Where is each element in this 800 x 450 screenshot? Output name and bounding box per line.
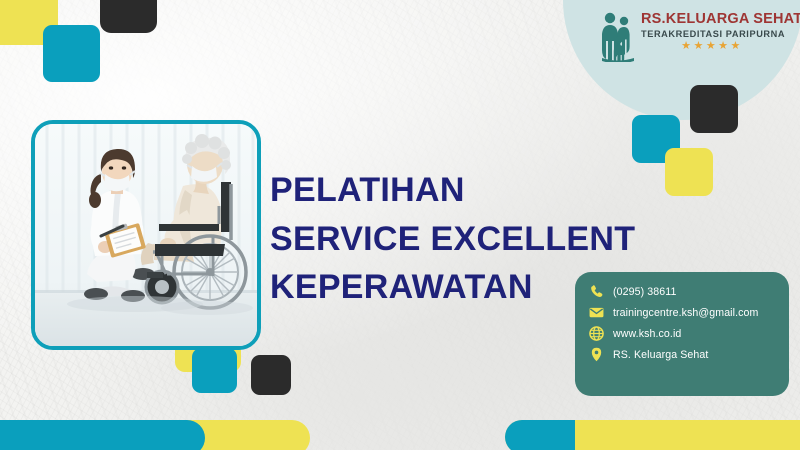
contact-phone-text: (0295) 38611	[613, 286, 676, 298]
decorative-bar-cyan-bottom-right	[505, 420, 575, 450]
envelope-icon	[589, 305, 604, 320]
globe-icon	[589, 326, 604, 341]
phone-icon	[589, 284, 604, 299]
hospital-logo: RS.KELUARGA SEHAT TERAKREDITASI PARIPURN…	[597, 8, 783, 70]
decorative-square-cyan-mid-left	[192, 348, 237, 393]
decorative-square-cyan-top-left	[43, 25, 100, 82]
location-pin-icon	[589, 347, 604, 362]
headline-line-2: SERVICE EXCELLENT	[270, 215, 690, 264]
contact-location-text: RS. Keluarga Sehat	[613, 349, 708, 361]
decorative-square-dark-top-left	[100, 0, 157, 33]
family-figures-logo-mark	[597, 10, 639, 62]
contact-website-text: www.ksh.co.id	[613, 328, 681, 340]
contact-list: (0295) 38611 trainingcentre.ksh@gmail.co…	[589, 284, 781, 362]
promotional-poster: RS.KELUARGA SEHAT TERAKREDITASI PARIPURN…	[0, 0, 800, 450]
training-photo	[31, 120, 261, 350]
nurse-and-patient-illustration	[35, 124, 257, 346]
contact-item-location[interactable]: RS. Keluarga Sehat	[589, 347, 781, 362]
contact-item-phone[interactable]: (0295) 38611	[589, 284, 781, 299]
logo-title: RS.KELUARGA SEHAT	[641, 12, 783, 27]
contact-item-website[interactable]: www.ksh.co.id	[589, 326, 781, 341]
decorative-square-dark-mid-left	[251, 355, 291, 395]
decorative-bar-cyan-bottom-left	[0, 420, 205, 450]
logo-star-rating: ★★★★★	[641, 41, 783, 52]
headline-line-1: PELATIHAN	[270, 166, 690, 215]
decorative-square-dark-top-right	[690, 85, 738, 133]
contact-info-card: (0295) 38611 trainingcentre.ksh@gmail.co…	[575, 272, 789, 396]
contact-item-email[interactable]: trainingcentre.ksh@gmail.com	[589, 305, 781, 320]
contact-email-text: trainingcentre.ksh@gmail.com	[613, 307, 758, 319]
